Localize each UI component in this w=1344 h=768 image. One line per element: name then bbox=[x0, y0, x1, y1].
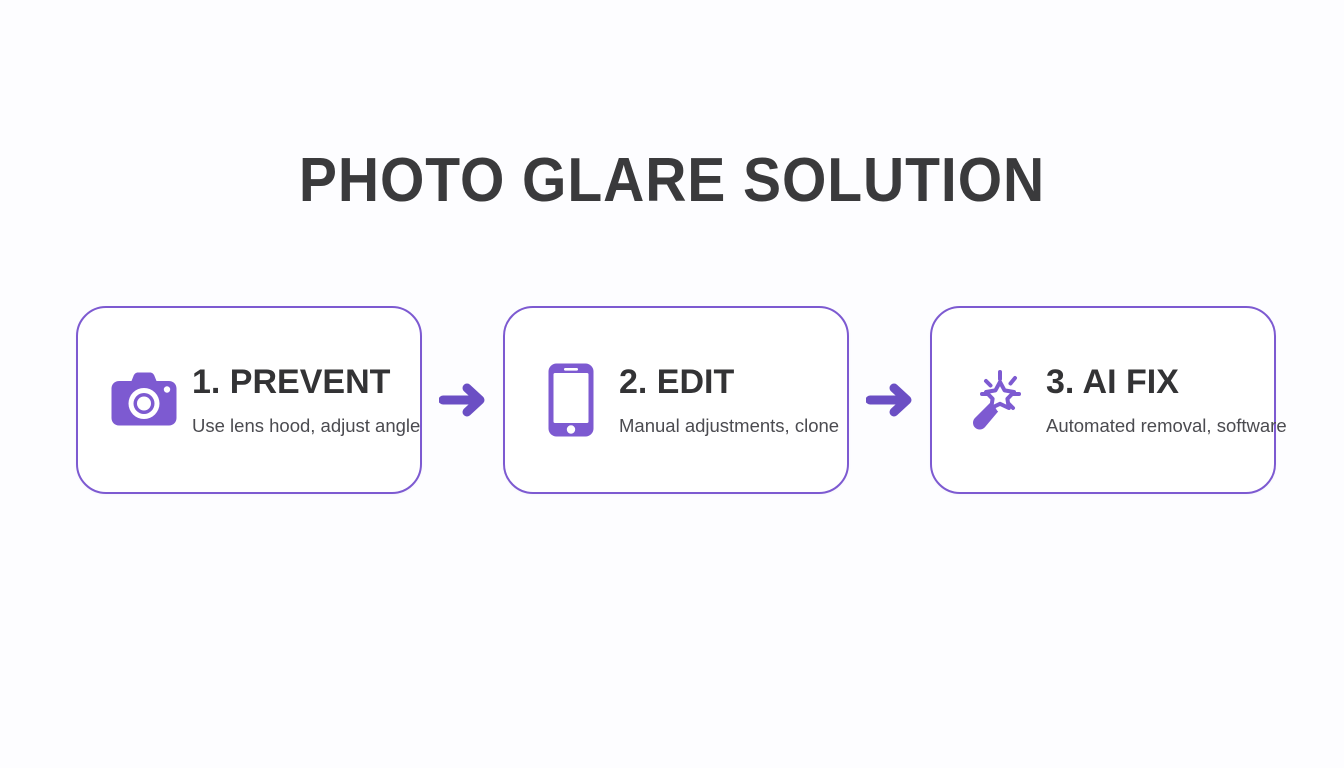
step-card-text: 2. EDIT Manual adjustments, clone bbox=[615, 362, 839, 438]
step-subtitle: Use lens hood, adjust angle bbox=[192, 414, 420, 438]
camera-icon bbox=[108, 362, 180, 438]
magic-wand-icon bbox=[962, 362, 1034, 438]
arrow-right-icon bbox=[435, 372, 491, 428]
step-subtitle: Automated removal, software bbox=[1046, 414, 1287, 438]
step-card-text: 1. PREVENT Use lens hood, adjust angle bbox=[188, 362, 420, 438]
step-card-text: 3. AI FIX Automated removal, software bbox=[1042, 362, 1287, 438]
step-card-prevent[interactable]: 1. PREVENT Use lens hood, adjust angle bbox=[76, 306, 422, 494]
slide-canvas: PHOTO GLARE SOLUTION 1. PREVENT Use lens… bbox=[0, 0, 1344, 768]
step-title: 3. AI FIX bbox=[1046, 362, 1179, 402]
process-flow: 1. PREVENT Use lens hood, adjust angle bbox=[76, 306, 1276, 494]
arrow-right-icon bbox=[862, 372, 918, 428]
page-title: PHOTO GLARE SOLUTION bbox=[54, 146, 1290, 216]
step-subtitle: Manual adjustments, clone bbox=[619, 414, 839, 438]
step-card-ai-fix[interactable]: 3. AI FIX Automated removal, software bbox=[930, 306, 1276, 494]
smartphone-icon bbox=[535, 362, 607, 438]
step-card-edit[interactable]: 2. EDIT Manual adjustments, clone bbox=[503, 306, 849, 494]
step-title: 2. EDIT bbox=[619, 362, 734, 402]
step-title: 1. PREVENT bbox=[192, 362, 390, 402]
